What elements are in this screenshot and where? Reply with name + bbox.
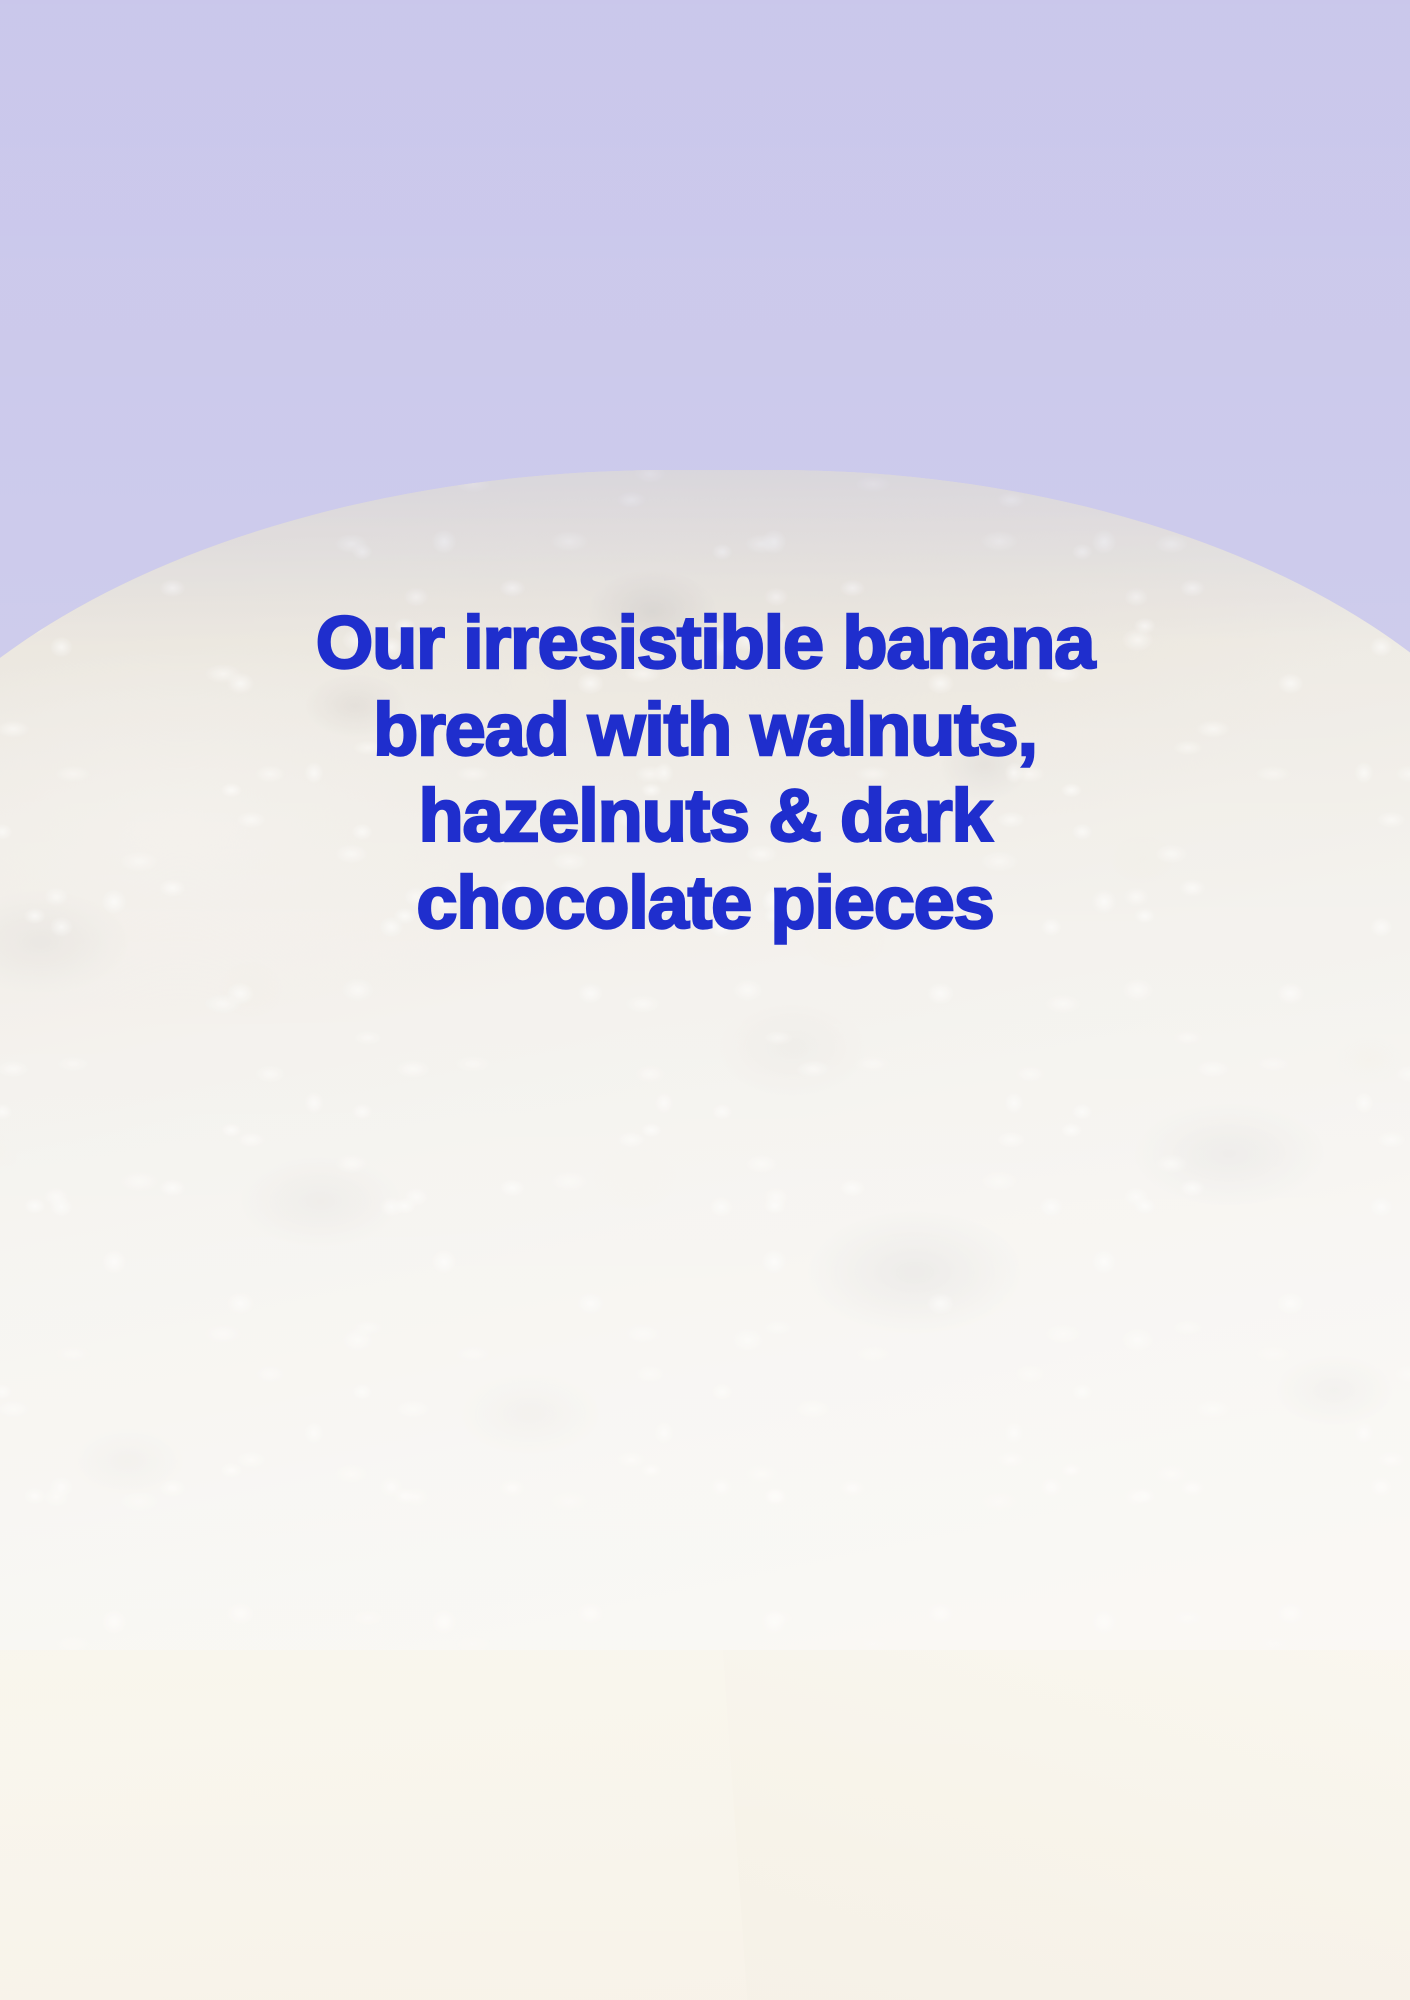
headline-line-2: bread with walnuts, xyxy=(316,687,1094,774)
headline-line-1: Our irresistible banana xyxy=(316,600,1094,687)
headline-line-3: hazelnuts & dark xyxy=(316,773,1094,860)
promo-canvas: Our irresistible banana bread with walnu… xyxy=(0,0,1410,2000)
headline-block: Our irresistible banana bread with walnu… xyxy=(0,600,1410,946)
page-title: Our irresistible banana bread with walnu… xyxy=(316,600,1094,946)
headline-line-4: chocolate pieces xyxy=(316,860,1094,947)
product-photo xyxy=(0,0,1410,2000)
